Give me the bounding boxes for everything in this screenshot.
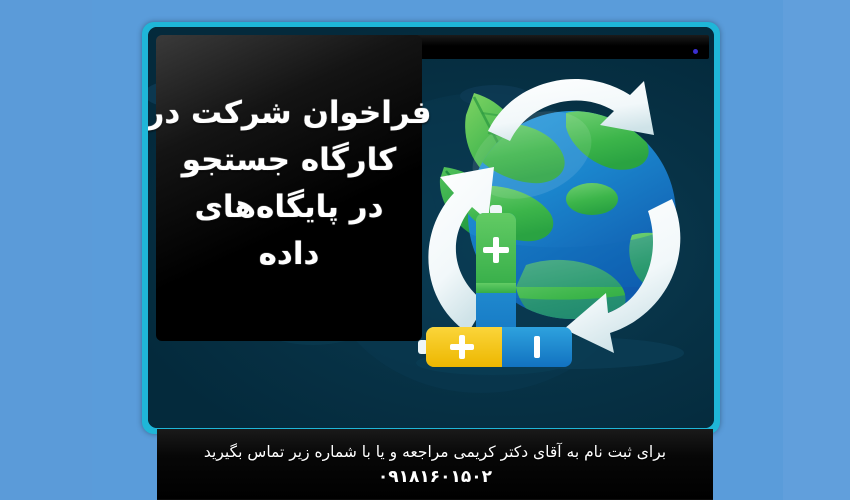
recycling-earth-illustration <box>404 57 704 407</box>
background-panel-right <box>783 0 850 500</box>
poster-title-line-1: فراخوان شرکت در <box>148 91 432 136</box>
caption-text: برای ثبت نام به آقای دکتر کریمی مراجعه و… <box>204 442 666 462</box>
blue-dot-icon <box>693 49 698 54</box>
caption-bar: برای ثبت نام به آقای دکتر کریمی مراجعه و… <box>157 429 713 500</box>
poster-title-card: فراخوان شرکت در کارگاه جستجو در پایگاه‌ه… <box>156 35 422 341</box>
background-panel-left <box>0 0 92 500</box>
battery-minus-icon <box>534 336 540 358</box>
poster-title-line-4: داده <box>259 232 320 277</box>
caption-phone-number: ۰۹۱۸۱۶۰۱۵۰۲ <box>378 467 492 487</box>
poster-title-line-2: کارگاه جستجو <box>182 138 397 183</box>
poster-title-line-3: در پایگاه‌های <box>195 185 384 230</box>
battery-horizontal <box>418 327 572 367</box>
top-black-strip <box>412 35 709 59</box>
poster-body: فراخوان شرکت در کارگاه جستجو در پایگاه‌ه… <box>148 27 714 428</box>
poster-frame: فراخوان شرکت در کارگاه جستجو در پایگاه‌ه… <box>142 22 720 434</box>
